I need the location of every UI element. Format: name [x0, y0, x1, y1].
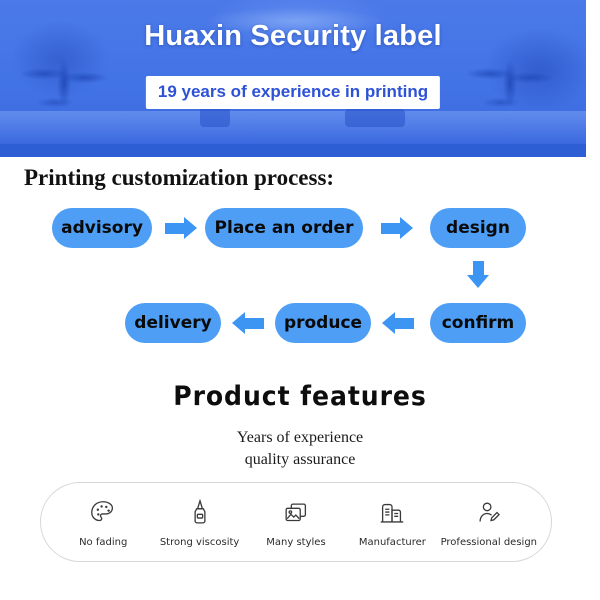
process-step-delivery[interactable]: delivery [125, 303, 221, 343]
process-step-produce[interactable]: produce [275, 303, 371, 343]
banner-title: Huaxin Security label [0, 20, 586, 53]
process-step-advisory[interactable]: advisory [52, 208, 152, 248]
process-heading: Printing customization process: [24, 165, 334, 191]
feature-item-professional-design[interactable]: Professional design [441, 496, 537, 548]
features-subtitle-line2: quality assurance [0, 449, 600, 471]
arrow-produce-to-delivery [232, 312, 264, 334]
features-list: No fading Strong viscosity Many styles [40, 482, 552, 562]
features-subtitle-line1: Years of experience [0, 427, 600, 449]
feature-label: Strong viscosity [160, 537, 240, 548]
features-subtitle: Years of experience quality assurance [0, 427, 600, 470]
feature-label: Professional design [441, 537, 537, 548]
buildings-icon [377, 496, 407, 530]
glue-bottle-icon [185, 496, 215, 530]
arrow-advisory-to-place-order [165, 217, 197, 239]
arrow-design-to-confirm [467, 261, 489, 288]
arrow-confirm-to-produce [382, 312, 414, 334]
feature-item-many-styles[interactable]: Many styles [248, 496, 344, 548]
features-heading: Product features [21, 381, 579, 412]
feature-item-manufacturer[interactable]: Manufacturer [344, 496, 440, 548]
process-flow-diagram: advisory Place an order design delivery … [0, 203, 600, 353]
arrow-place-order-to-design [381, 217, 413, 239]
feature-label: Manufacturer [359, 537, 426, 548]
banner-plant-left [18, 45, 110, 141]
banner-plant-right [464, 45, 556, 141]
banner-desk-object-right [345, 109, 405, 127]
process-step-place-an-order[interactable]: Place an order [205, 208, 363, 248]
banner-badge: 19 years of experience in printing [146, 76, 440, 109]
process-step-confirm[interactable]: confirm [430, 303, 526, 343]
person-pen-icon [474, 496, 504, 530]
feature-item-strong-viscosity[interactable]: Strong viscosity [151, 496, 247, 548]
hero-banner: Huaxin Security label 19 years of experi… [0, 0, 586, 157]
process-step-design[interactable]: design [430, 208, 526, 248]
feature-label: Many styles [266, 537, 325, 548]
palette-icon [88, 496, 118, 530]
feature-label: No fading [79, 537, 127, 548]
feature-item-no-fading[interactable]: No fading [55, 496, 151, 548]
image-stack-icon [281, 496, 311, 530]
